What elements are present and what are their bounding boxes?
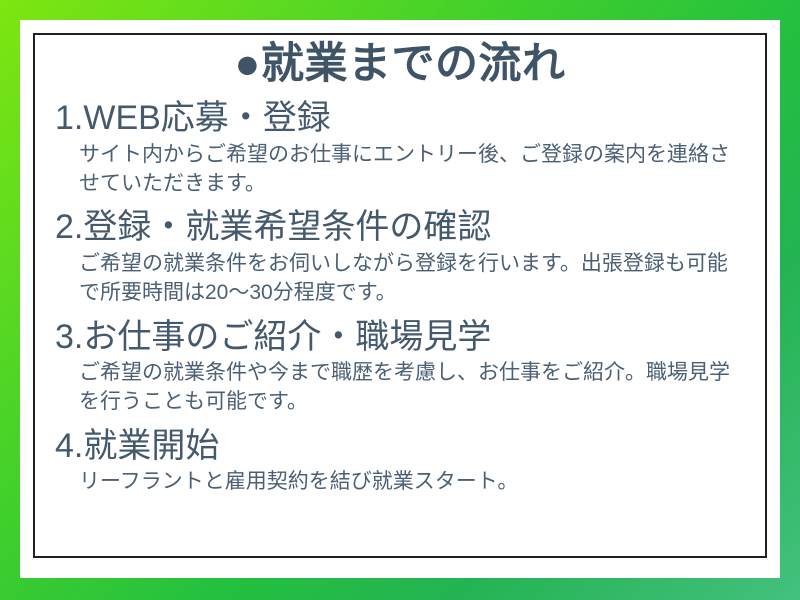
step-body-3: ご希望の就業条件や今まで職歴を考慮し、お仕事をご紹介。職場見学を行うことも可能で… [55,359,745,417]
step-item-4: 4.就業開始 リーフラントと雇用契約を結び就業スタート。 [55,426,745,497]
poster-root: ●就業までの流れ 1.WEB応募・登録 サイト内からご希望のお仕事にエントリー後… [0,0,800,600]
step-item-1: 1.WEB応募・登録 サイト内からご希望のお仕事にエントリー後、ご登録の案内を連… [55,98,745,198]
step-body-4: リーフラントと雇用契約を結び就業スタート。 [55,468,745,497]
step-body-1: サイト内からご希望のお仕事にエントリー後、ご登録の案内を連絡させていただきます。 [55,141,745,199]
step-heading-2: 2.登録・就業希望条件の確認 [55,207,745,247]
step-heading-4: 4.就業開始 [55,426,745,466]
step-body-2: ご希望の就業条件をお伺いしながら登録を行います。出張登録も可能で所要時間は20〜… [55,250,745,308]
poster-content: ●就業までの流れ 1.WEB応募・登録 サイト内からご希望のお仕事にエントリー後… [33,33,767,558]
step-item-2: 2.登録・就業希望条件の確認 ご希望の就業条件をお伺いしながら登録を行います。出… [55,207,745,307]
step-item-3: 3.お仕事のご紹介・職場見学 ご希望の就業条件や今まで職歴を考慮し、お仕事をご紹… [55,317,745,417]
step-heading-1: 1.WEB応募・登録 [55,98,745,138]
white-card: ●就業までの流れ 1.WEB応募・登録 サイト内からご希望のお仕事にエントリー後… [20,20,780,578]
step-heading-3: 3.お仕事のご紹介・職場見学 [55,317,745,357]
page-title: ●就業までの流れ [55,41,745,87]
